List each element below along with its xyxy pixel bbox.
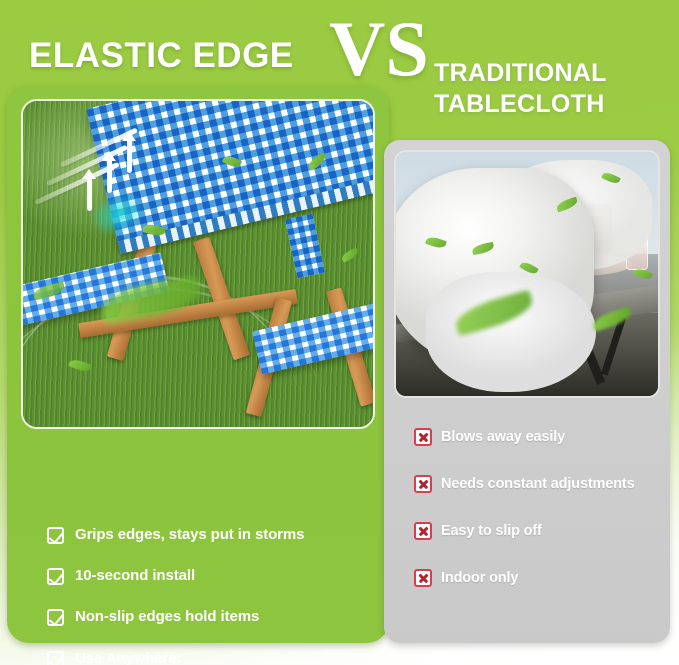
check-box-icon [47, 651, 64, 665]
list-item: Indoor only [414, 569, 679, 587]
page-title-right-line1: TRADITIONAL [434, 59, 607, 87]
check-box-icon [47, 609, 64, 626]
wind-arrow-head [122, 131, 136, 141]
page-title-left: ELASTIC EDGE [29, 36, 294, 76]
wind-arrow-head [102, 151, 116, 161]
comparison-infographic: ELASTIC EDGE VS TRADITIONAL TABLECLOTH [0, 0, 679, 665]
drawback-label: Indoor only [441, 570, 518, 586]
list-item: Needs constant adjustments [414, 475, 679, 493]
benefit-label-main: Use Anywhere: [75, 650, 182, 665]
list-item: Blows away easily [414, 428, 679, 446]
list-item: Non-slip edges hold items [47, 607, 387, 626]
x-box-icon [414, 475, 432, 493]
drawback-label: Needs constant adjustments [441, 476, 635, 492]
elastic-edge-panel: Grips edges, stays put in storms 10-seco… [7, 85, 389, 643]
list-item: Easy to slip off [414, 522, 679, 540]
traditional-tablecloth-photo [394, 150, 660, 398]
drawbacks-list: Blows away easily Needs constant adjustm… [414, 428, 679, 616]
page-title-right: TRADITIONAL TABLECLOTH [434, 58, 607, 119]
benefit-label: Use Anywhere: (Outdoor/Indoor/Beach/Moun… [75, 649, 312, 665]
x-box-icon [414, 569, 432, 587]
vs-label: VS [329, 10, 429, 88]
wind-arrows-icon [29, 115, 159, 235]
benefit-label: Grips edges, stays put in storms [75, 525, 304, 544]
x-box-icon [414, 522, 432, 540]
x-box-icon [414, 428, 432, 446]
benefit-label: 10-second install [75, 566, 195, 585]
check-box-icon [47, 568, 64, 585]
drawback-label: Blows away easily [441, 429, 565, 445]
traditional-tablecloth-panel: Blows away easily Needs constant adjustm… [384, 140, 670, 643]
list-item: Grips edges, stays put in storms [47, 525, 387, 544]
wind-arrow-up [87, 177, 92, 211]
benefits-list: Grips edges, stays put in storms 10-seco… [47, 525, 387, 665]
leaf-decoration [633, 267, 653, 281]
list-item: Use Anywhere: (Outdoor/Indoor/Beach/Moun… [47, 649, 387, 665]
wind-arrow-head [82, 169, 96, 179]
white-tablecloth-fold [426, 272, 596, 392]
wind-arrow-up [127, 139, 132, 173]
wind-arrow-up [107, 159, 112, 193]
elastic-edge-photo [21, 99, 375, 429]
benefit-label: Non-slip edges hold items [75, 607, 259, 626]
list-item: 10-second install [47, 566, 387, 585]
page-title-right-line2: TABLECLOTH [434, 90, 605, 118]
drawback-label: Easy to slip off [441, 523, 542, 539]
check-box-icon [47, 527, 64, 544]
